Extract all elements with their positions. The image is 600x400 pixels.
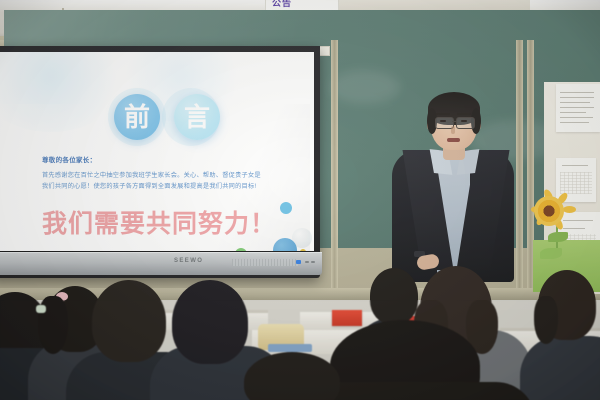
- slide-headline: 我们需要共同努力！: [42, 204, 276, 240]
- teacher-eyebrow-left: [436, 113, 450, 115]
- notebook: [268, 344, 312, 352]
- chalkboard-track-divider: [331, 40, 338, 294]
- attendee-head: [92, 280, 166, 362]
- power-led-icon: [296, 260, 301, 264]
- title-char-1: 前: [114, 94, 160, 140]
- sunflower-leaf: [540, 248, 562, 259]
- bubble-green-small-icon: [235, 248, 247, 251]
- teacher-mouth: [447, 138, 460, 142]
- slide-greeting: 尊敬的各位家长：: [42, 154, 300, 164]
- eyeglasses-bridge: [452, 121, 457, 122]
- attendee-head: [370, 268, 418, 324]
- slide-title: 前 言: [114, 94, 220, 140]
- wall-sign-text: 公告: [272, 0, 292, 9]
- teacher-nose: [451, 126, 455, 134]
- chalkboard-track-divider: [516, 40, 523, 294]
- presentation-slide: 前 言 尊敬的各位家长： 首先感谢您在百忙之中抽空参加我班学生家长会。关心、帮助…: [0, 52, 314, 251]
- title-char-2: 言: [174, 94, 220, 140]
- chalk-smudge: [330, 70, 400, 104]
- sunflower-leaf: [548, 232, 568, 242]
- display-button[interactable]: [305, 261, 309, 263]
- display-button[interactable]: [311, 261, 315, 263]
- slide-bg-wash: [0, 52, 126, 132]
- name-card-red: [332, 310, 362, 326]
- hair-clip: [36, 305, 46, 313]
- slide-body: 尊敬的各位家长： 首先感谢您在百忙之中抽空参加我班学生家长会。关心、帮助、督促贵…: [42, 154, 300, 192]
- slide-body-line-2: 我们共同的心愿！使您的孩子各方面得到全面发展和提高是我们共同的目标!: [42, 181, 300, 192]
- display-brand-label: SEEWO: [174, 258, 203, 264]
- bubble-cyan-small-icon: [280, 202, 292, 214]
- display-vent: [232, 259, 298, 266]
- sunflower-icon: [534, 196, 564, 226]
- bubble-yellow-dot-icon: [300, 249, 306, 251]
- eyeglasses-icon: [456, 117, 475, 129]
- slide-body-line-1: 首先感谢您在百忙之中抽空参加我班学生家长会。关心、帮助、督促贵子女是: [42, 170, 300, 181]
- classroom-photo: 公告: [0, 0, 600, 400]
- display-screen[interactable]: 前 言 尊敬的各位家长： 首先感谢您在百忙之中抽空参加我班学生家长会。关心、帮助…: [0, 52, 314, 251]
- teacher-eyebrow-right: [457, 113, 471, 115]
- attendee-head: [172, 280, 248, 364]
- long-hair: [534, 296, 558, 344]
- attendee-shoulders: [520, 336, 600, 400]
